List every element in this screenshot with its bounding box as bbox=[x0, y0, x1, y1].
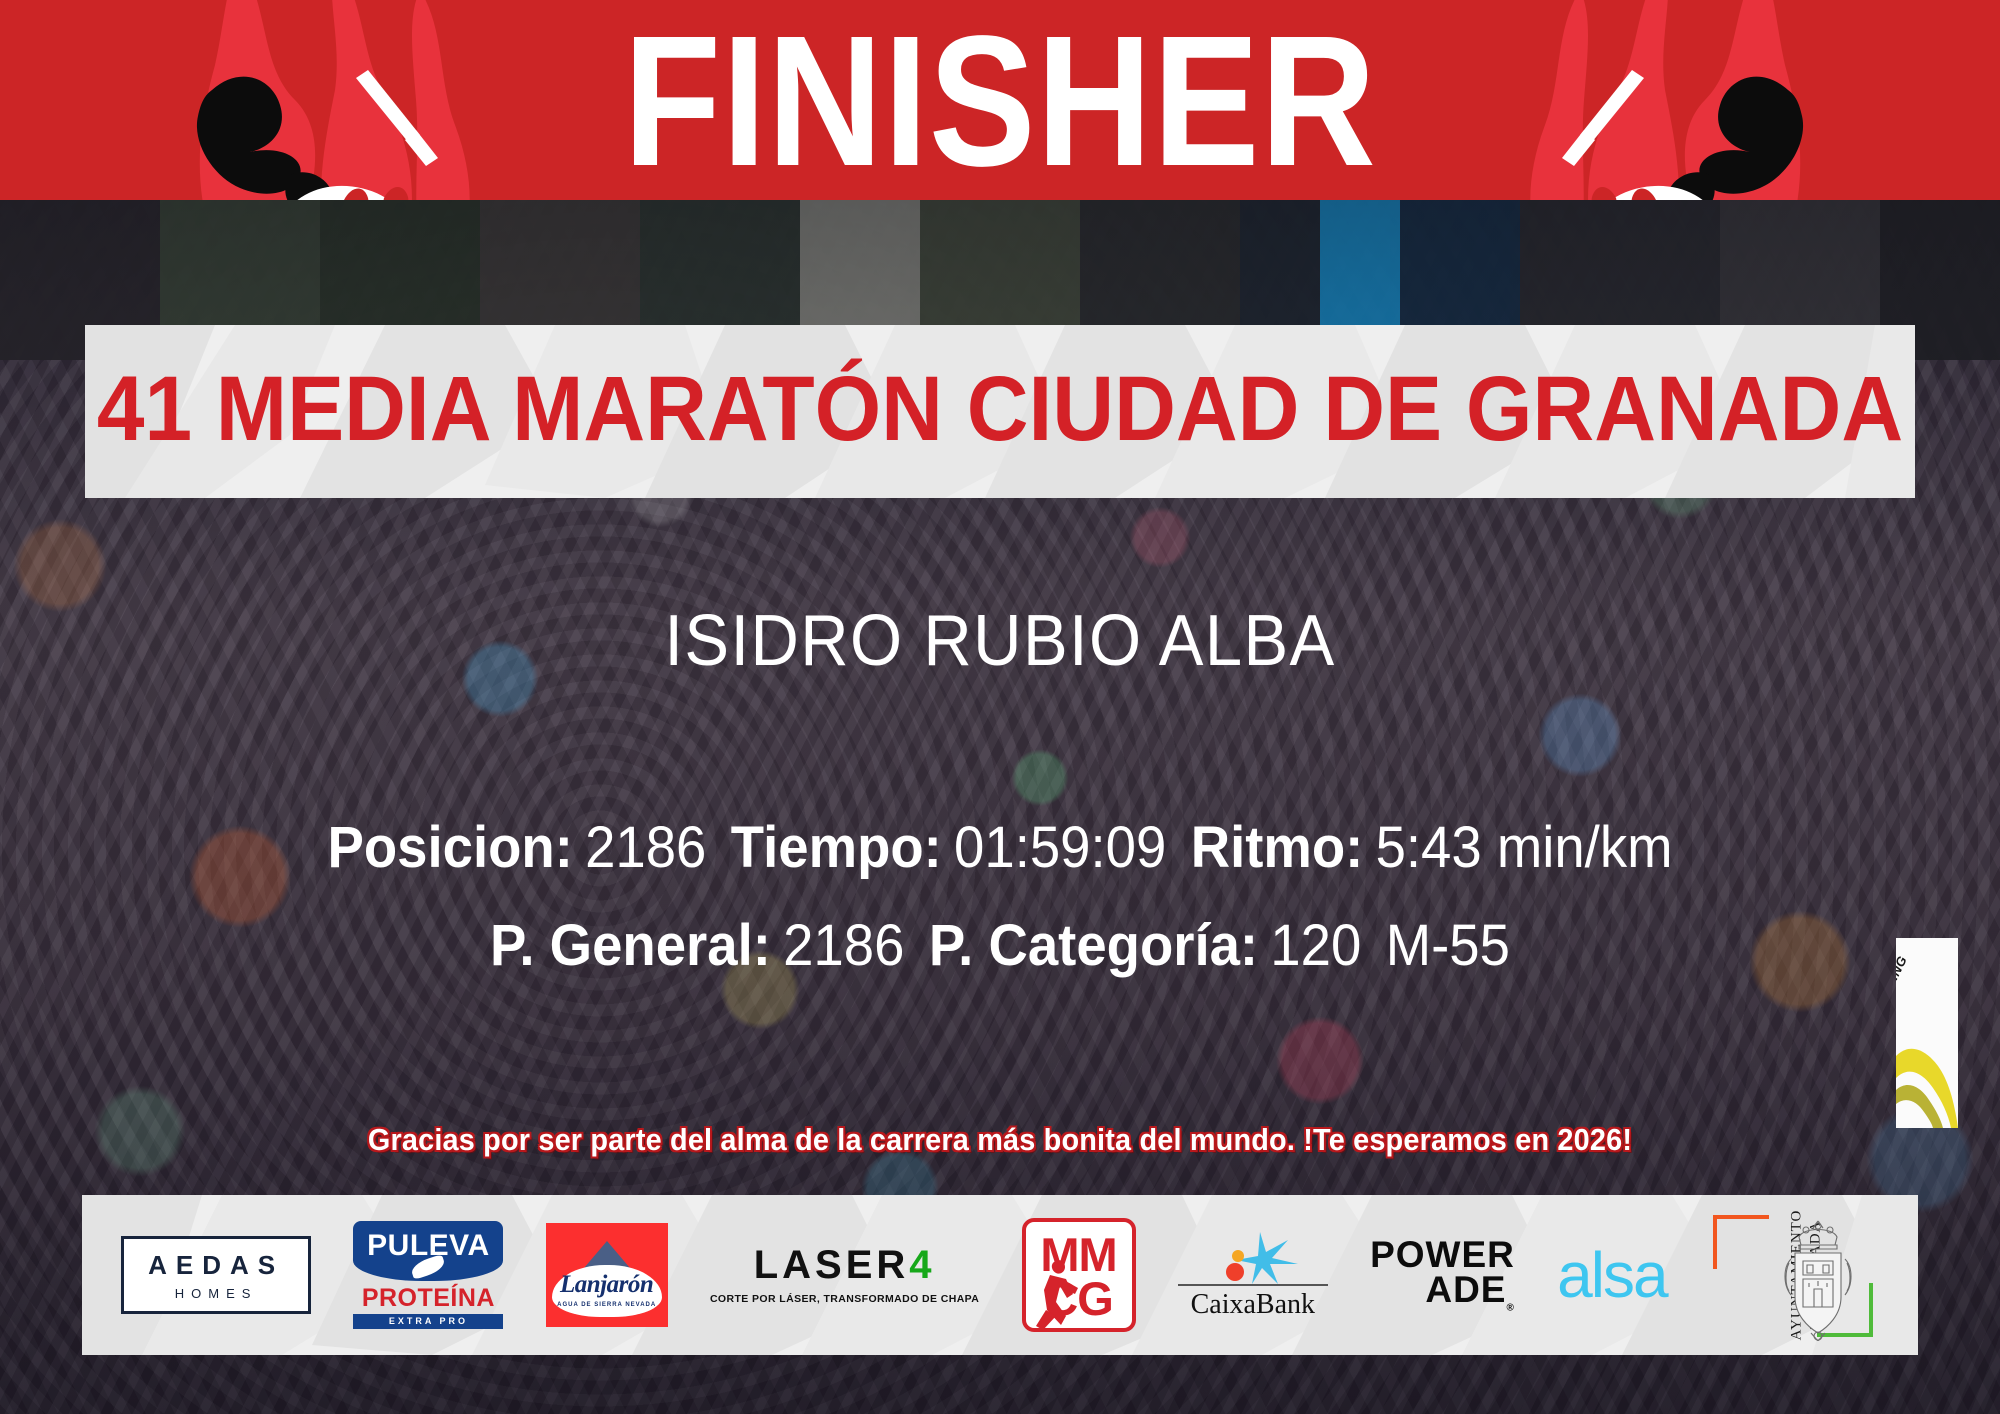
rfea-badge-graphic: RFEA SERIES RUTA RUNNING bbox=[1896, 938, 1958, 1128]
aedas-subtext: HOMES bbox=[148, 1287, 284, 1300]
alsa-wordmark: alsa bbox=[1557, 1243, 1666, 1307]
caixabank-wordmark: CaixaBank bbox=[1178, 1284, 1328, 1321]
results-line-2: P. General:2186P. Categoría:120M-55 bbox=[60, 908, 1940, 984]
results-line-1: Posicion:2186Tiempo:01:59:09Ritmo:5:43 m… bbox=[60, 810, 1940, 886]
sponsor-logo-powerade: POWER ADE® bbox=[1370, 1237, 1515, 1313]
event-title-banner: 41 MEDIA MARATÓN CIUDAD DE GRANADA bbox=[85, 325, 1915, 498]
finisher-certificate: FINISHER 41 MEDIA MARATÓN CIUDAD DE GRAN… bbox=[0, 0, 2000, 1414]
time-label: Tiempo: bbox=[731, 815, 942, 880]
granada-coat-of-arms-icon bbox=[1773, 1215, 1863, 1341]
time-value: 01:59:09 bbox=[954, 815, 1166, 880]
pace-value: 5:43 min/km bbox=[1376, 815, 1673, 880]
lanjaron-wordmark: Lanjarón bbox=[546, 1271, 668, 1299]
runner-silhouette-icon bbox=[1026, 1222, 1136, 1332]
powerade-ade-text: ADE® bbox=[1370, 1272, 1515, 1313]
sponsor-logo-alsa: alsa bbox=[1557, 1243, 1666, 1307]
sponsor-logo-aedas: AEDAS HOMES bbox=[121, 1236, 311, 1314]
laser4-wordmark: LASER4 bbox=[710, 1245, 979, 1285]
sponsor-logo-laser4: LASER4 CORTE POR LÁSER, TRANSFORMADO DE … bbox=[710, 1245, 979, 1305]
sponsor-logo-ayuntamiento: AYUNTAMIENTO DE GRANADA bbox=[1709, 1205, 1879, 1345]
header-band: FINISHER bbox=[0, 0, 2000, 200]
laser-text: LASER bbox=[754, 1243, 910, 1287]
sponsor-logo-caixabank: CaixaBank bbox=[1178, 1230, 1328, 1321]
powerade-ade-word: ADE bbox=[1425, 1269, 1506, 1310]
sponsor-bar: AEDAS HOMES PULEVA PROTEÍNA EXTRA PRO bbox=[82, 1195, 1918, 1355]
category-position-value: 120 bbox=[1270, 913, 1361, 978]
laser4-tagline: CORTE POR LÁSER, TRANSFORMADO DE CHAPA bbox=[710, 1293, 979, 1305]
sponsor-logo-lanjaron: Lanjarón AGUA DE SIERRA NEVADA bbox=[546, 1223, 668, 1327]
laser-four-text: 4 bbox=[909, 1243, 935, 1287]
runner-name: ISIDRO RUBIO ALBA bbox=[70, 600, 1930, 682]
rfea-series-badge: RFEA SERIES RUTA RUNNING bbox=[1896, 938, 1958, 1128]
category-position-label: P. Categoría: bbox=[929, 913, 1258, 978]
thanks-message: Gracias por ser parte del alma de la car… bbox=[70, 1122, 1930, 1158]
general-position-label: P. General: bbox=[490, 913, 771, 978]
category-code: M-55 bbox=[1386, 913, 1510, 978]
sponsor-logo-puleva: PULEVA PROTEÍNA EXTRA PRO bbox=[353, 1221, 503, 1329]
puleva-wordmark: PULEVA bbox=[353, 1221, 503, 1281]
orange-bracket-icon bbox=[1713, 1215, 1769, 1269]
general-position-value: 2186 bbox=[783, 913, 904, 978]
event-title: 41 MEDIA MARATÓN CIUDAD DE GRANADA bbox=[149, 325, 1851, 498]
finisher-title: FINISHER bbox=[140, 11, 1860, 193]
sponsor-logo-mmcg: MM CG bbox=[1022, 1218, 1136, 1332]
lanjaron-subtext: AGUA DE SIERRA NEVADA bbox=[546, 1302, 668, 1308]
caixabank-star-icon bbox=[1178, 1230, 1328, 1284]
puleva-text: PULEVA bbox=[367, 1229, 489, 1262]
position-label: Posicion: bbox=[327, 815, 572, 880]
pace-label: Ritmo: bbox=[1191, 815, 1364, 880]
sponsor-logos: AEDAS HOMES PULEVA PROTEÍNA EXTRA PRO bbox=[82, 1195, 1918, 1355]
aedas-wordmark: AEDAS bbox=[148, 1252, 284, 1278]
results-block: Posicion:2186Tiempo:01:59:09Ritmo:5:43 m… bbox=[60, 810, 1940, 984]
powerade-power-text: POWER bbox=[1370, 1237, 1515, 1272]
position-value: 2186 bbox=[585, 815, 706, 880]
registered-mark-icon: ® bbox=[1506, 1303, 1514, 1314]
puleva-proteina-text: PROTEÍNA bbox=[353, 1286, 503, 1311]
puleva-extrapro-text: EXTRA PRO bbox=[353, 1314, 503, 1329]
